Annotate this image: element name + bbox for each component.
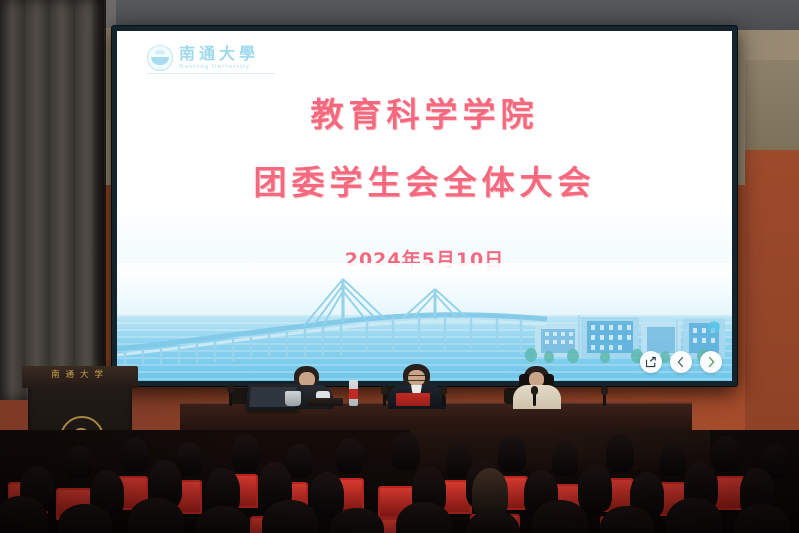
audience-head <box>336 438 364 474</box>
university-name-en: Nantong University <box>179 64 259 71</box>
wall-right-terracotta <box>745 150 799 440</box>
microphone-5-head <box>601 386 608 395</box>
slide-title-line-2: 团委学生会全体大会 <box>117 161 732 205</box>
lectern-top: 南通大学 <box>22 366 138 388</box>
audience-head <box>660 442 686 476</box>
slide-title-line-1: 教育科学学院 <box>117 93 732 137</box>
audience-head <box>196 506 250 533</box>
audience-head <box>606 434 634 472</box>
slide-indicator-dot <box>708 321 720 333</box>
lectern-university-name: 南通大学 <box>22 368 138 380</box>
audience-head <box>734 504 790 533</box>
audience-head <box>66 446 92 478</box>
university-seal-icon <box>147 45 173 71</box>
university-logo: 南通大學 Nantong University <box>147 45 259 71</box>
university-name-cn: 南通大學 <box>179 46 259 62</box>
university-logo-text: 南通大學 Nantong University <box>179 46 259 71</box>
audience-head <box>498 436 526 472</box>
audience-head <box>310 472 344 518</box>
share-icon[interactable] <box>640 351 662 373</box>
audience-head <box>578 464 612 512</box>
water-bottle <box>349 380 358 406</box>
audience-head <box>552 442 578 476</box>
slide-title-block: 教育科学学院 团委学生会全体大会 2024年5月10日 <box>117 93 732 272</box>
cup <box>285 391 301 406</box>
microphone-1-head <box>227 384 234 393</box>
microphone-2-head <box>381 386 388 395</box>
eyeglasses <box>407 375 428 381</box>
audience-head <box>232 434 260 472</box>
name-card <box>396 393 430 406</box>
microphone-3-head <box>440 386 447 395</box>
audience-head <box>122 438 148 472</box>
audience-area <box>0 430 799 533</box>
wall-right-tan <box>745 60 799 155</box>
auditorium-photo: 南通大學 Nantong University 教育科学学院 团委学生会全体大会… <box>0 0 799 533</box>
slide-controls[interactable] <box>640 351 722 373</box>
projection-screen-frame: 南通大學 Nantong University 教育科学学院 团委学生会全体大会… <box>112 26 737 386</box>
audience-head <box>712 436 740 472</box>
left-curtain <box>0 0 104 400</box>
chevron-left-icon[interactable] <box>670 351 692 373</box>
audience-head <box>392 432 420 470</box>
document-stack <box>307 398 343 406</box>
projection-screen: 南通大學 Nantong University 教育科学学院 团委学生会全体大会… <box>117 31 732 381</box>
logo-underline <box>147 73 275 74</box>
curtain-edge-shadow <box>92 0 106 400</box>
chevron-right-icon[interactable] <box>700 351 722 373</box>
microphone-4-head <box>531 386 538 395</box>
